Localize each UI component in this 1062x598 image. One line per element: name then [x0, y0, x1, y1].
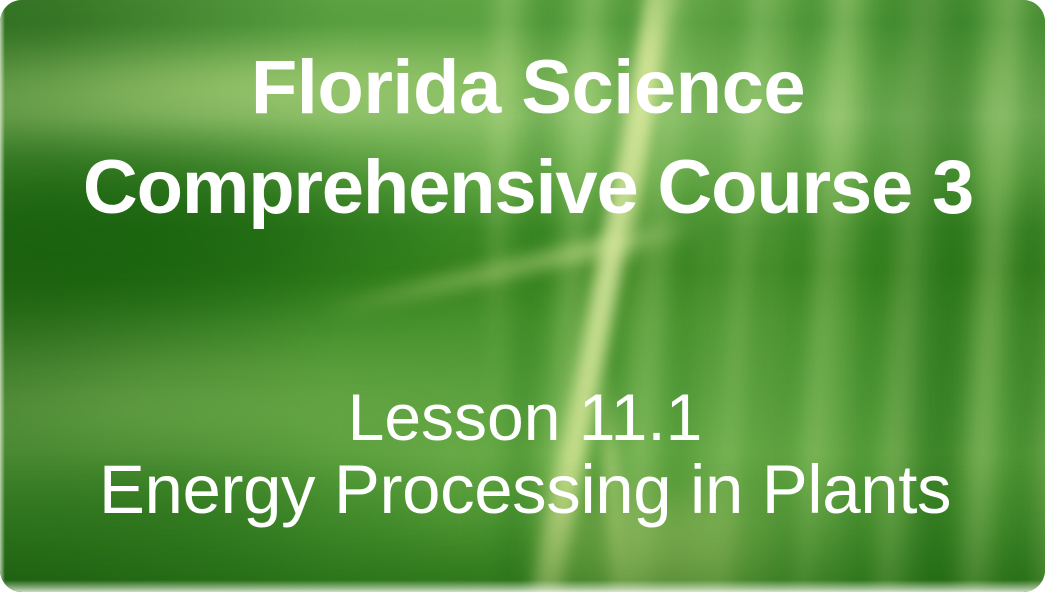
slide-text-layer: Florida Science Comprehensive Course 3 L… — [0, 0, 1062, 598]
title-slide: Florida Science Comprehensive Course 3 L… — [0, 0, 1062, 598]
slide-title-line-2: Comprehensive Course 3 — [0, 138, 1056, 238]
slide-subtitle-lesson-number: Lesson 11.1 — [0, 383, 1050, 453]
slide-subtitle-lesson-title: Energy Processing in Plants — [0, 453, 1050, 526]
slide-subtitle: Lesson 11.1 Energy Processing in Plants — [0, 383, 1050, 526]
slide-title: Florida Science Comprehensive Course 3 — [0, 38, 1056, 239]
slide-title-line-1: Florida Science — [0, 38, 1056, 138]
